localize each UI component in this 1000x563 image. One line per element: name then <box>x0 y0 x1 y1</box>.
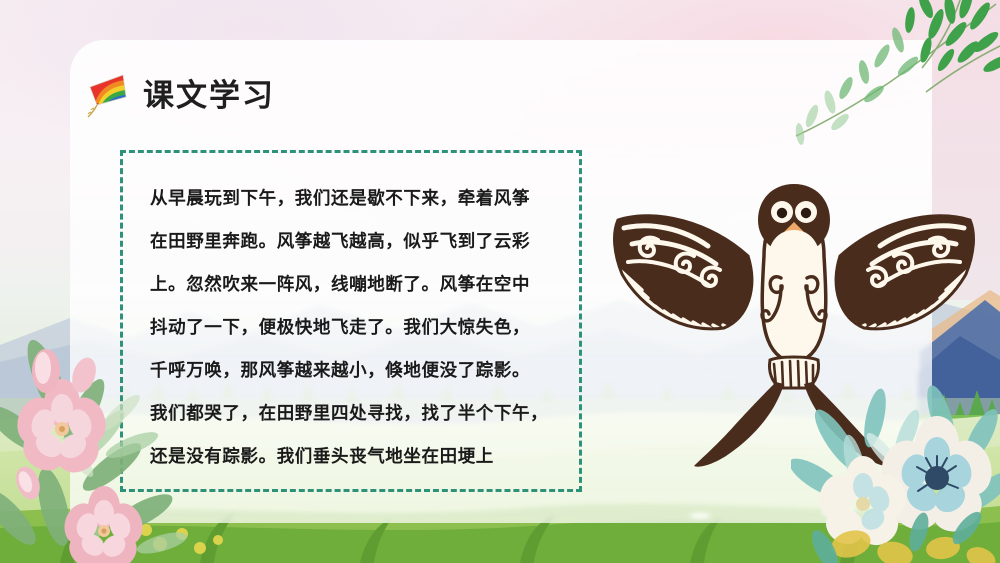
passage-line: 上。忽然吹来一阵风，线嘣地断了。风筝在空中 <box>150 264 560 307</box>
passage-line: 在田野里奔跑。风筝越飞越高，似乎飞到了云彩 <box>150 221 560 264</box>
swallow-kite-illustration <box>598 178 990 478</box>
passage-line: 我们都哭了，在田野里四处寻找，找了半个下午， <box>150 393 560 436</box>
passage-line: 千呼万唤，那风筝越来越小，倏地便没了踪影。 <box>150 350 560 393</box>
slide-root: 课文学习 从早晨玩到下午，我们还是歇不下来，牵着风筝 在田野里奔跑。风筝越飞越高… <box>0 0 1000 563</box>
passage-line: 从早晨玩到下午，我们还是歇不下来，牵着风筝 <box>150 178 560 221</box>
passage-text: 从早晨玩到下午，我们还是歇不下来，牵着风筝 在田野里奔跑。风筝越飞越高，似乎飞到… <box>150 178 560 479</box>
passage-line: 还是没有踪影。我们垂头丧气地坐在田埂上 <box>150 436 560 479</box>
passage-line: 抖动了一下，便极快地飞走了。我们大惊失色， <box>150 307 560 350</box>
kite-icon <box>85 71 129 121</box>
page-header: 课文学习 <box>85 72 275 120</box>
page-title: 课文学习 <box>143 81 275 112</box>
